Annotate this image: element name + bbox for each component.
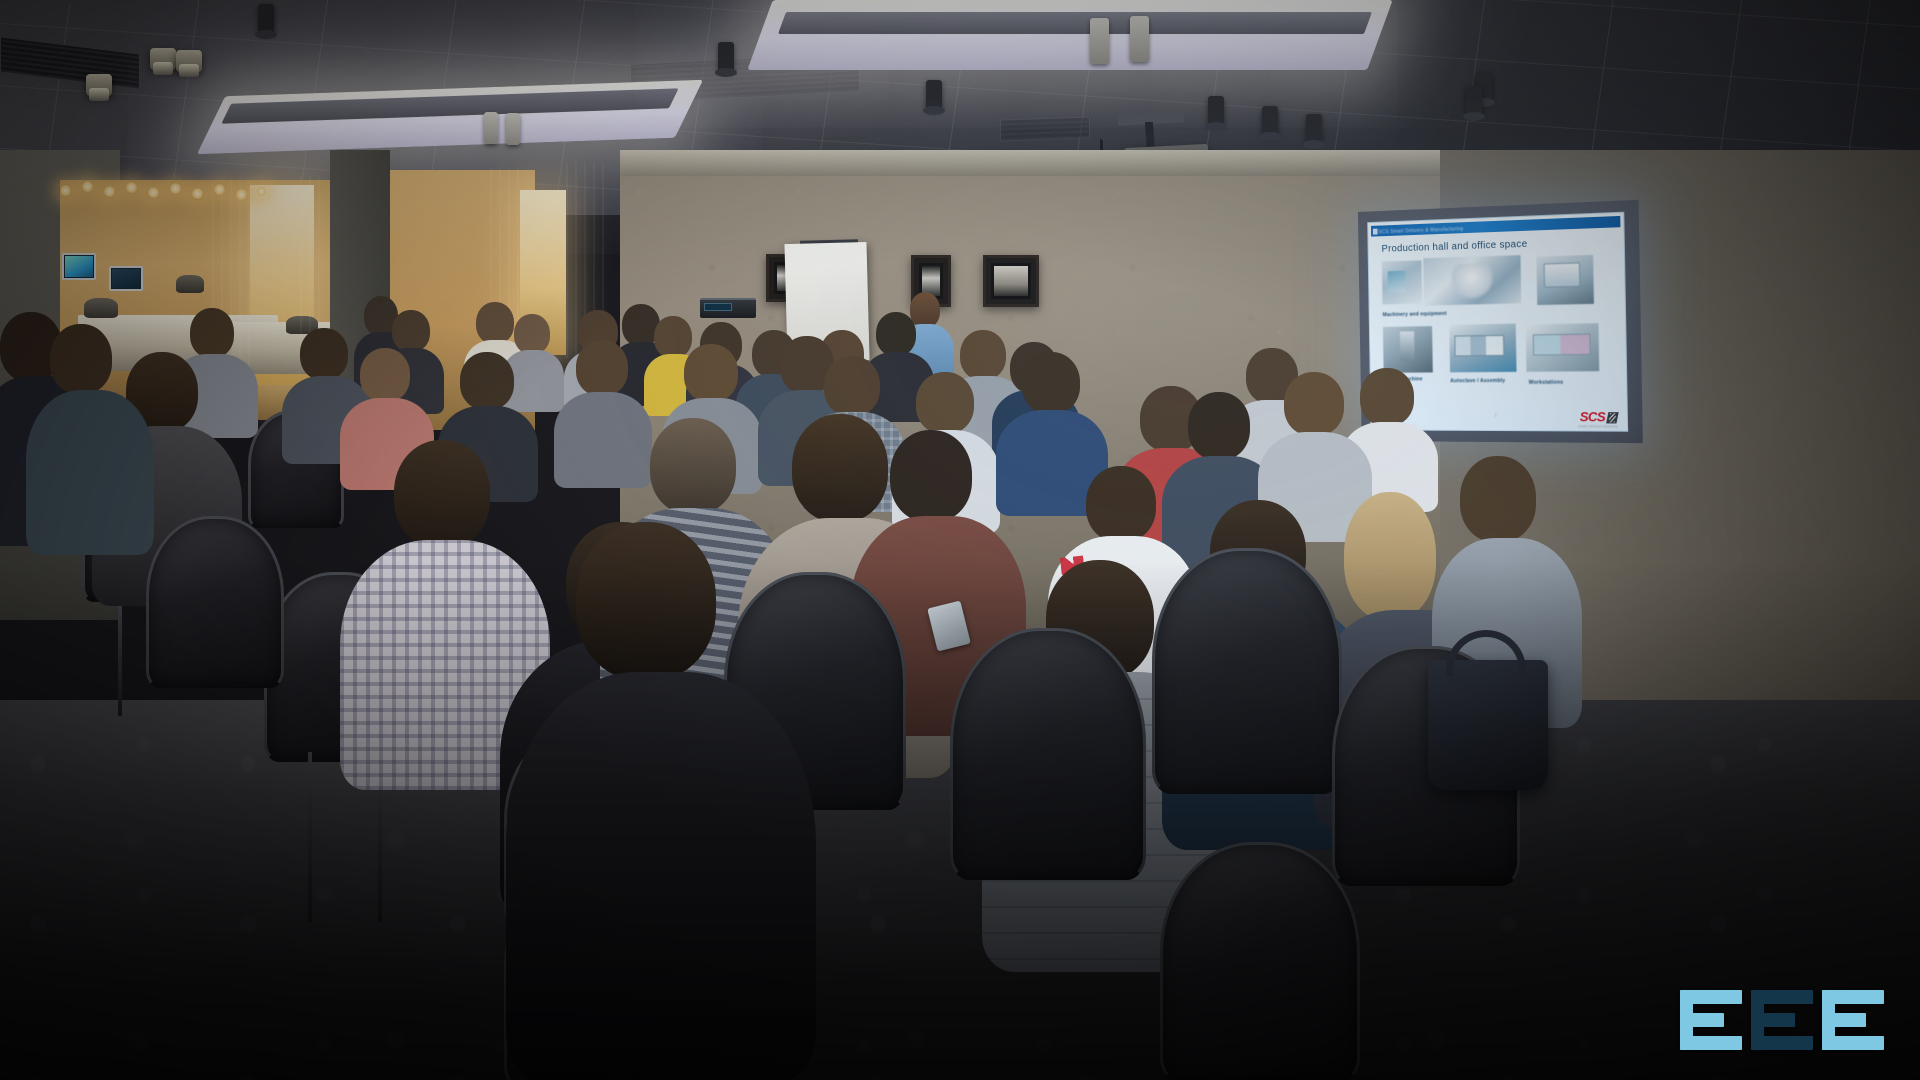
- attendee-m9-head: [916, 372, 974, 434]
- framed-picture-3: [983, 255, 1039, 307]
- caption-workstations: Workstations: [1529, 380, 1564, 386]
- chair-f-left-3-rim: [146, 516, 284, 688]
- ceiling-speaker-1: [1090, 18, 1109, 64]
- photo-operator-machine: [1423, 255, 1521, 305]
- track-spotlight-1: [150, 48, 176, 70]
- photo-workstation-desks: [1526, 323, 1600, 372]
- attendee-b3-head: [476, 302, 514, 344]
- background-monitor-1-screen: [65, 256, 93, 277]
- ceiling-speaker-4: [506, 113, 520, 145]
- track-spotlight-8: [1262, 106, 1278, 136]
- ceiling-speaker-3: [484, 112, 498, 144]
- watermark-glyph-2: [1751, 990, 1813, 1050]
- photo-assembly-desk: [1449, 324, 1516, 373]
- track-spotlight-5: [718, 42, 734, 72]
- track-spotlight-7: [1208, 96, 1224, 126]
- attendee-m3-head: [360, 348, 410, 402]
- ceiling-light-cove-right: [747, 0, 1392, 70]
- attendee-b7-head: [654, 316, 692, 358]
- watermark-logo: [1680, 990, 1884, 1050]
- photo-workstation-desks-image: [1526, 323, 1600, 372]
- photo-assembly-desk-image: [1449, 324, 1516, 373]
- photo-operator-machine-image: [1423, 255, 1521, 305]
- ceiling-speaker-2: [1130, 16, 1149, 62]
- attendee-m4-head: [460, 352, 514, 410]
- attendee-f11-head: [1460, 456, 1536, 542]
- attendee-m10-head: [1022, 352, 1080, 414]
- attendee-m8-head: [824, 356, 880, 416]
- background-monitor-1: [62, 253, 96, 280]
- attendee-m5-body: [554, 392, 652, 488]
- attendee-m12-head: [1188, 392, 1250, 460]
- scs-wordmark: SCS: [1580, 410, 1606, 423]
- attendee-m6-head: [684, 344, 738, 402]
- track-spotlight-3: [86, 74, 112, 96]
- attendee-b4-head: [514, 314, 550, 354]
- presenter-head: [910, 292, 940, 328]
- scs-tagline: smart contract solutions: [1578, 424, 1618, 428]
- framed-picture-3-mat: [991, 263, 1031, 299]
- attendee-m13-head: [1284, 372, 1344, 436]
- attendee-m5-head: [576, 340, 628, 396]
- attendee-f6-head: [650, 418, 736, 514]
- attendee-f10-head: [1344, 492, 1436, 620]
- track-spotlight-4: [258, 4, 274, 34]
- attendee-b2-head: [392, 310, 430, 352]
- attendee-b15-head: [1360, 368, 1414, 426]
- caption-autoclave-assembly: Autoclave / Assembly: [1450, 378, 1505, 384]
- attendee-f3-body: [26, 390, 154, 555]
- slide-page-number: 7: [1494, 413, 1496, 418]
- av-control-box-display: [704, 303, 732, 311]
- attendee-fg-center-head: [576, 522, 716, 680]
- handbag: [1428, 660, 1548, 790]
- background-monitor-2: [109, 266, 143, 291]
- chair-f-left-1-leg: [118, 596, 122, 716]
- framed-picture-3-art: [994, 266, 1028, 296]
- attendee-fg-center-body: [506, 672, 816, 1080]
- buffet-tray-1: [84, 298, 118, 318]
- photo-cnc-cabinet: [1536, 255, 1594, 305]
- photo-cnc-cabinet-image: [1536, 255, 1594, 305]
- attendee-m1-head: [190, 308, 234, 358]
- track-spotlight-9: [1306, 114, 1322, 144]
- attendee-b12-head: [960, 330, 1006, 380]
- chair-fg-2-rim: [950, 628, 1146, 880]
- attendee-m2-head: [300, 328, 348, 380]
- attendee-red-tee-head: [1086, 466, 1156, 542]
- watermark-glyph-3: [1822, 990, 1884, 1050]
- watermark-glyph-1: [1680, 990, 1742, 1050]
- chair-fg-5-rim: [1160, 842, 1360, 1080]
- photo-equipment-closeup-image: [1382, 260, 1422, 304]
- chair-f-left-2-leg: [308, 752, 312, 922]
- attendee-f3-head: [50, 324, 112, 394]
- photo-equipment-closeup: [1382, 260, 1422, 304]
- air-vent-3: [1000, 116, 1090, 141]
- attendee-f8-head: [890, 430, 972, 522]
- background-monitor-2-screen: [112, 269, 140, 288]
- track-spotlight-6: [926, 80, 942, 110]
- attendee-f4-head: [394, 440, 490, 548]
- photo-milling-machine-image: [1383, 326, 1433, 373]
- ceiling-light-cove-right-divider: [778, 12, 1372, 34]
- scs-logo-mark: [1606, 412, 1619, 423]
- track-spotlight-2: [176, 50, 202, 72]
- photo-milling-machine: [1383, 326, 1433, 373]
- conference-room-photo: SCS Smart Delivery & Manufacturing Produ…: [0, 0, 1920, 1080]
- caption-machinery-and-equipment: Machinery and equipment: [1383, 311, 1447, 318]
- buffet-tray-2: [176, 275, 204, 293]
- scs-logo: SCS: [1580, 410, 1618, 423]
- attendee-f7-head: [792, 414, 888, 522]
- chair-fg-3-rim: [1152, 548, 1342, 794]
- attendee-b11-head: [876, 312, 916, 356]
- slide-header-text: SCS Smart Delivery & Manufacturing: [1378, 226, 1463, 235]
- track-spotlight-11: [1466, 86, 1482, 116]
